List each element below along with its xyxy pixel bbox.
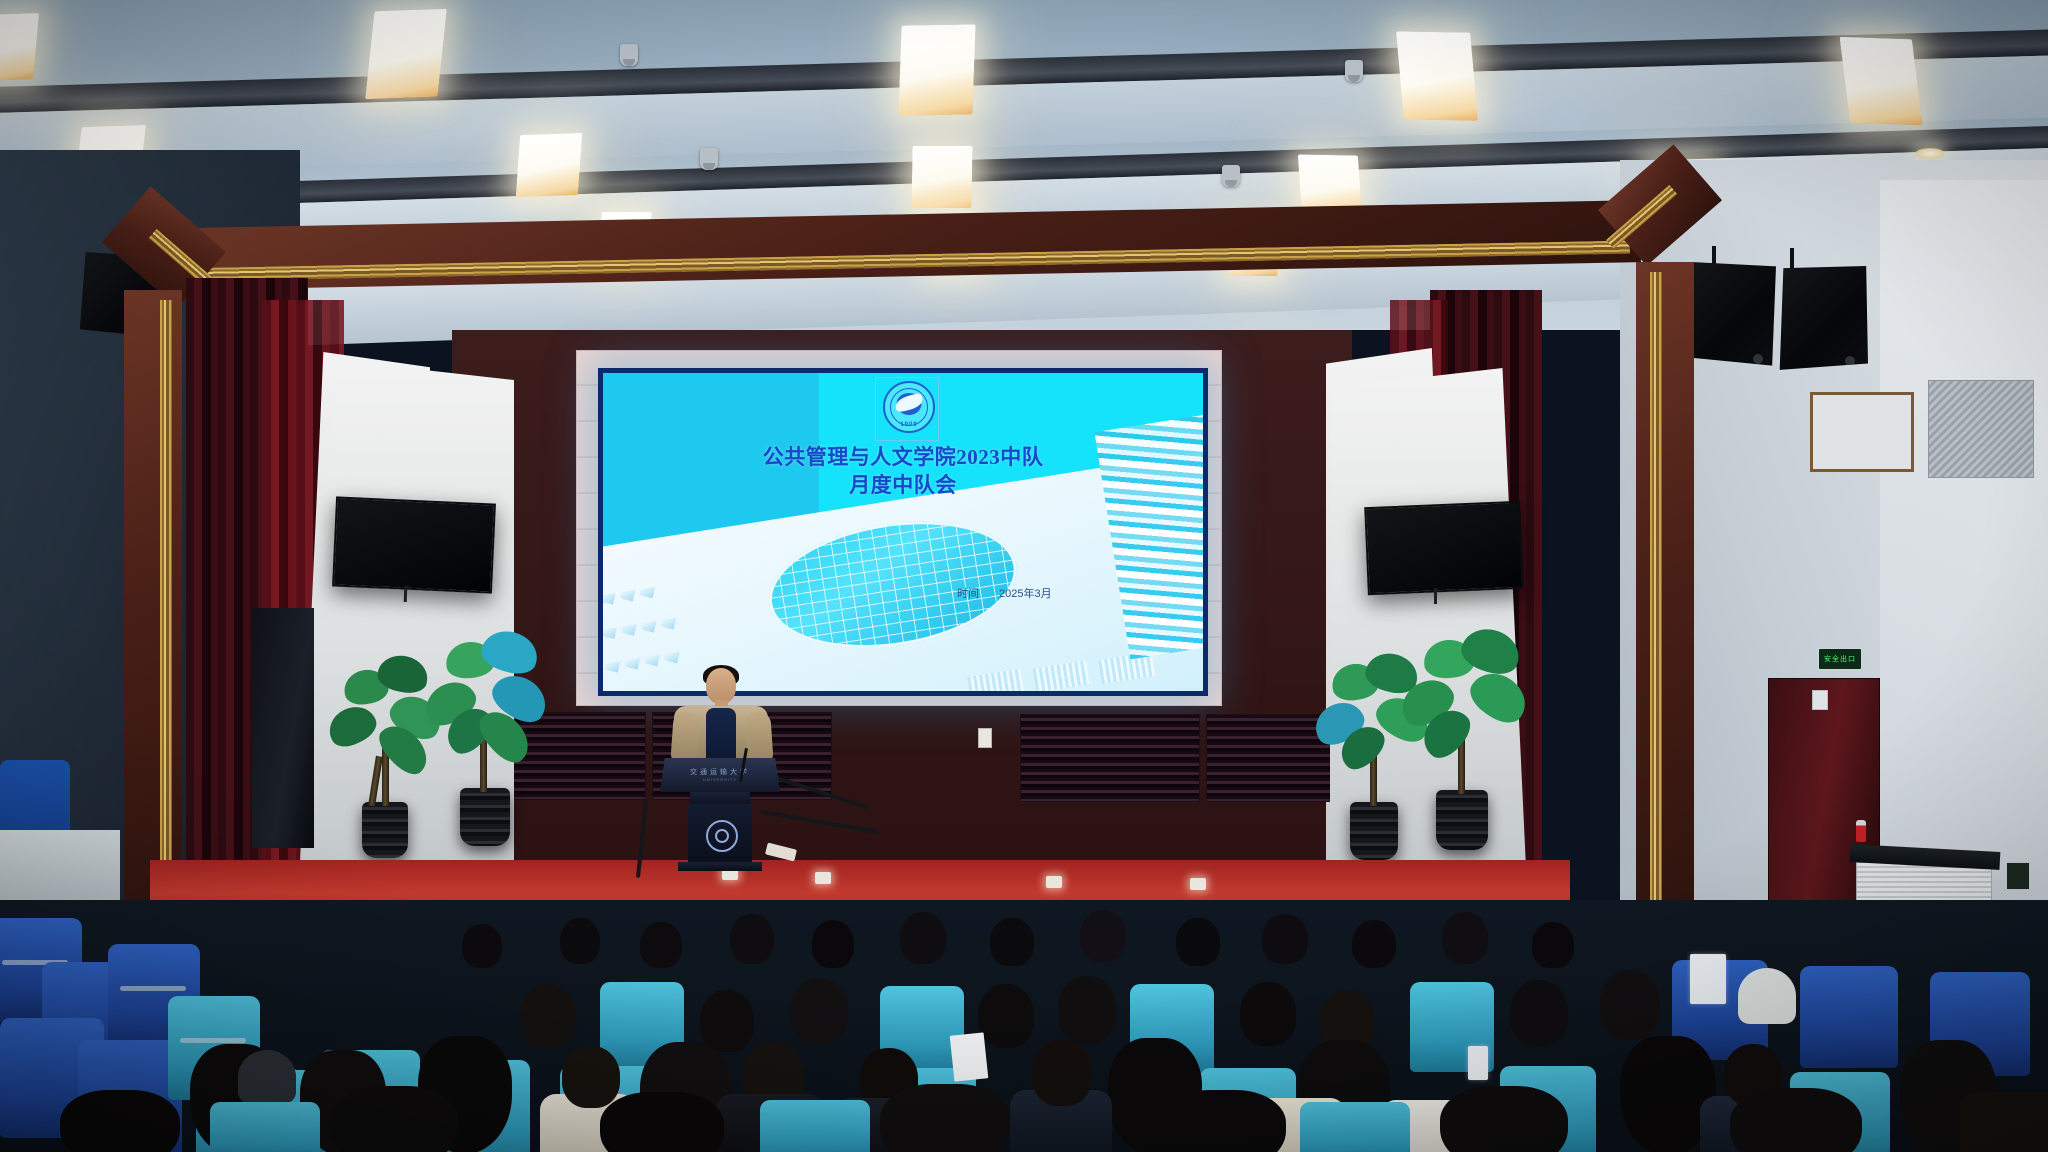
plant-pot <box>1436 790 1488 850</box>
sprinkler-icon <box>1222 165 1240 187</box>
potted-plant-left-2 <box>420 600 550 860</box>
seat[interactable] <box>210 1102 320 1152</box>
facade-fin-row <box>603 618 678 647</box>
slide-date-value: 2025年3月 <box>999 585 1052 601</box>
lectern-org-text: 交通运输大学 <box>660 767 780 777</box>
university-seal-icon: 1909 <box>883 381 935 433</box>
seat[interactable] <box>760 1100 870 1152</box>
plant-pot <box>1350 802 1398 860</box>
ceiling-light <box>0 13 39 81</box>
seat[interactable] <box>1300 1102 1410 1152</box>
facade-fin-row <box>603 587 657 613</box>
ceiling-light <box>516 133 583 197</box>
ceiling-light <box>1840 37 1923 125</box>
lectern-base <box>678 862 762 871</box>
person-hair-long <box>60 1090 180 1152</box>
slide-title-line2: 月度中队会 <box>603 469 1203 499</box>
exit-sign: 安全出口 <box>1818 648 1862 670</box>
fire-extinguisher-icon <box>1856 820 1866 842</box>
sprinkler-icon <box>620 44 638 66</box>
auditorium-photo: 1909 公共管理与人文学院2023中队 月度中队会 时间 2025年3月 <box>0 0 2048 1152</box>
lectern-emblem-icon <box>706 820 738 852</box>
plant-pot <box>460 788 510 846</box>
wall-vent <box>1928 380 2034 478</box>
plant-leaf <box>1463 663 1535 730</box>
facade-window-strip <box>1098 652 1155 684</box>
person-hair-long <box>1440 1086 1568 1152</box>
led-screen: 1909 公共管理与人文学院2023中队 月度中队会 时间 2025年3月 <box>598 368 1208 696</box>
left-dark-door <box>252 608 314 848</box>
person-hair-long <box>600 1092 724 1152</box>
stage-floor-light <box>815 872 831 884</box>
ceiling-light <box>365 9 447 99</box>
ceiling-light <box>898 24 975 115</box>
ceiling-speaker-right-a <box>1680 262 1776 370</box>
stage-floor-light <box>1190 878 1206 890</box>
speaker-bracket <box>1790 248 1794 270</box>
potted-plant-right-2 <box>1396 600 1528 862</box>
wall-monitor-left <box>332 496 496 593</box>
slide-title-line1: 公共管理与人文学院2023中队 <box>603 441 1203 471</box>
facade-window-strip <box>1033 660 1090 691</box>
seal-year: 1909 <box>885 422 933 428</box>
downlight-icon <box>1915 148 1945 159</box>
person-hair-long <box>330 1086 458 1152</box>
sprinkler-icon <box>700 148 718 170</box>
person-torso <box>1960 1092 2048 1152</box>
plant-pot <box>362 802 408 858</box>
audience-row-closest <box>0 1096 2048 1152</box>
held-paper <box>950 1032 989 1081</box>
lectern-neck <box>690 792 750 804</box>
wall-switch[interactable] <box>978 728 992 748</box>
monitor-mount <box>404 586 408 602</box>
lectern-sub-text: UNIVERSITY <box>660 777 780 782</box>
person-hair-long <box>1160 1090 1286 1152</box>
speaker-person <box>668 668 774 768</box>
ceiling-speaker-right-b <box>1776 266 1868 372</box>
person-shirt <box>706 708 736 764</box>
wall-monitor-right <box>1364 501 1524 595</box>
person-hair-long <box>1730 1088 1862 1152</box>
person-head <box>706 668 736 704</box>
acoustic-slat-panel <box>1020 714 1200 802</box>
person-hair-long <box>880 1084 1010 1152</box>
oval-glass-grid <box>760 505 1026 665</box>
ceiling-light <box>1396 31 1478 120</box>
wall-picture-frame <box>1810 392 1914 472</box>
stage-floor-light <box>1046 876 1062 888</box>
held-paper <box>1690 954 1726 1004</box>
sprinkler-icon <box>1345 60 1363 82</box>
building-oval-atrium <box>760 505 1026 665</box>
lectern: 交通运输大学 UNIVERSITY <box>660 758 780 870</box>
wall-socket-right[interactable] <box>1812 690 1828 710</box>
audience-seating <box>0 900 2048 1152</box>
held-phone <box>1468 1046 1488 1080</box>
slide-date-label: 时间 <box>957 585 979 601</box>
facade-window-strip <box>967 669 1024 691</box>
ceiling-light <box>911 146 972 208</box>
wall-panel-green-led[interactable] <box>2006 862 2030 890</box>
presentation-slide: 1909 公共管理与人文学院2023中队 月度中队会 时间 2025年3月 <box>603 373 1203 691</box>
right-wall-far <box>1880 180 2048 880</box>
